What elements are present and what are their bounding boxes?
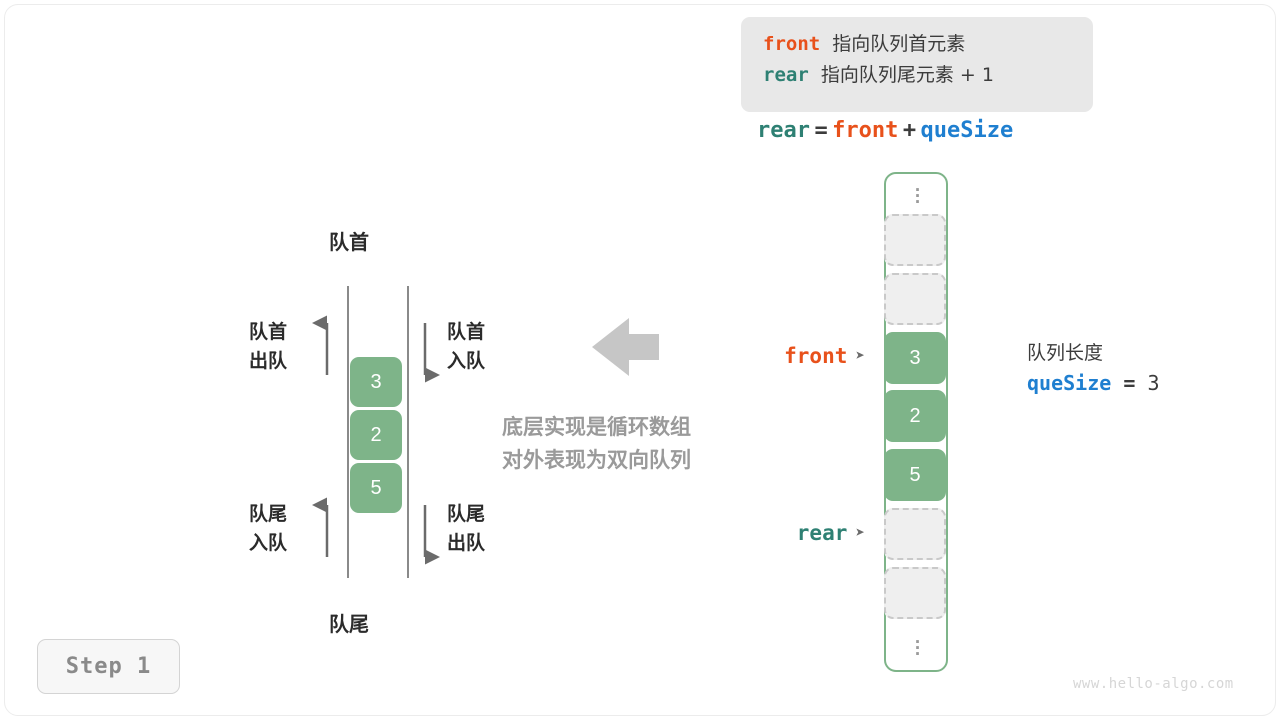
array-cell-1[interactable] bbox=[884, 273, 946, 325]
array-cell-2[interactable]: 3 bbox=[884, 332, 946, 384]
op-label-head-enqueue-l1: 队首 bbox=[447, 318, 485, 347]
array-cell-5[interactable] bbox=[884, 508, 946, 560]
queue-cell-2-value: 5 bbox=[370, 477, 381, 500]
diagram-canvas: front 指向队列首元素 rear 指向队列尾元素 + 1 rear = fr… bbox=[0, 0, 1280, 720]
array-cell-3-value: 2 bbox=[909, 405, 920, 428]
op-label-tail-enqueue: 队尾 入队 bbox=[249, 500, 287, 558]
array-cell-4-value: 5 bbox=[909, 464, 920, 487]
queue-cell-0[interactable]: 3 bbox=[350, 357, 402, 407]
queue-cell-1-value: 2 bbox=[370, 424, 381, 447]
queue-size-note: 队列长度 queSize = 3 bbox=[1027, 338, 1159, 398]
formula-rear: rear bbox=[757, 118, 810, 143]
legend-text-front: 指向队列首元素 bbox=[832, 33, 965, 55]
queue-head-caption: 队首 bbox=[329, 228, 369, 256]
ellipsis-bottom-icon: ··· bbox=[886, 640, 950, 658]
queue-cell-0-value: 3 bbox=[370, 371, 381, 394]
center-note-line1: 底层实现是循环数组 bbox=[502, 411, 691, 444]
rear-arrow-icon: ➤ bbox=[855, 523, 865, 542]
op-label-tail-dequeue-l2: 出队 bbox=[447, 529, 485, 558]
formula-plus: + bbox=[903, 118, 916, 143]
legend-token-front: front bbox=[763, 33, 820, 55]
op-label-tail-enqueue-l1: 队尾 bbox=[249, 500, 287, 529]
queue-size-title: 队列长度 bbox=[1027, 338, 1159, 368]
legend-box: front 指向队列首元素 rear 指向队列尾元素 + 1 bbox=[741, 17, 1093, 112]
quesize-var: queSize bbox=[1027, 371, 1111, 395]
watermark: www.hello-algo.com bbox=[1073, 676, 1234, 692]
op-label-head-enqueue-l2: 入队 bbox=[447, 347, 485, 376]
formula-front: front bbox=[832, 118, 898, 143]
op-label-head-enqueue: 队首 入队 bbox=[447, 318, 485, 376]
quesize-equals: = bbox=[1123, 371, 1135, 395]
array-cell-0[interactable] bbox=[884, 214, 946, 266]
formula-rear-equals: rear = front + queSize bbox=[757, 118, 1097, 143]
op-label-tail-enqueue-l2: 入队 bbox=[249, 529, 287, 558]
array-cell-2-value: 3 bbox=[909, 347, 920, 370]
rear-pointer-label: rear➤ bbox=[700, 521, 865, 545]
op-label-tail-dequeue: 队尾 出队 bbox=[447, 500, 485, 558]
legend-text-rear: 指向队列尾元素 + 1 bbox=[821, 64, 994, 86]
array-cell-4[interactable]: 5 bbox=[884, 449, 946, 501]
step-badge: Step 1 bbox=[37, 639, 180, 694]
legend-line-rear: rear 指向队列尾元素 + 1 bbox=[763, 60, 1075, 91]
front-arrow-icon: ➤ bbox=[855, 346, 865, 365]
legend-line-front: front 指向队列首元素 bbox=[763, 29, 1075, 60]
formula-equals: = bbox=[814, 118, 827, 143]
rear-pointer-text: rear bbox=[797, 521, 848, 545]
queue-cell-1[interactable]: 2 bbox=[350, 410, 402, 460]
ellipsis-top-icon: ··· bbox=[886, 188, 950, 206]
queue-rail-left bbox=[347, 286, 349, 578]
center-note: 底层实现是循环数组 对外表现为双向队列 bbox=[502, 411, 691, 477]
op-label-head-dequeue: 队首 出队 bbox=[249, 318, 287, 376]
formula-quesize: queSize bbox=[921, 118, 1014, 143]
front-pointer-text: front bbox=[784, 344, 847, 368]
center-note-line2: 对外表现为双向队列 bbox=[502, 444, 691, 477]
mapping-arrow-left-icon bbox=[592, 318, 659, 376]
op-label-head-dequeue-l2: 出队 bbox=[249, 347, 287, 376]
front-pointer-label: front➤ bbox=[700, 344, 865, 368]
queue-cell-2[interactable]: 5 bbox=[350, 463, 402, 513]
queue-tail-caption: 队尾 bbox=[329, 610, 369, 638]
op-label-head-dequeue-l1: 队首 bbox=[249, 318, 287, 347]
legend-token-rear: rear bbox=[763, 64, 809, 86]
quesize-value: 3 bbox=[1147, 371, 1159, 395]
queue-size-expression: queSize = 3 bbox=[1027, 368, 1159, 398]
op-label-tail-dequeue-l1: 队尾 bbox=[447, 500, 485, 529]
array-cell-6[interactable] bbox=[884, 567, 946, 619]
queue-rail-right bbox=[407, 286, 409, 578]
array-cell-3[interactable]: 2 bbox=[884, 390, 946, 442]
